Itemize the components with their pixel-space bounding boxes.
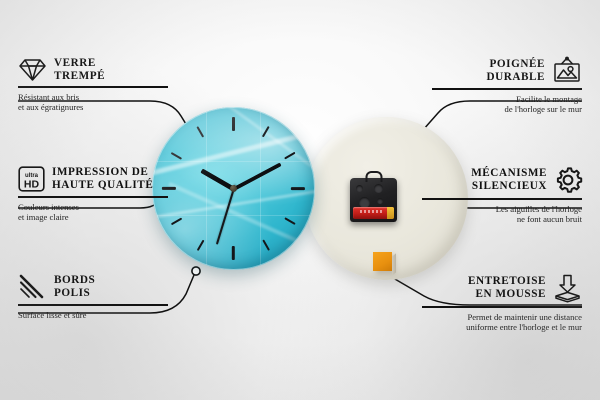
foam-spacer bbox=[373, 252, 392, 271]
movement-detail bbox=[377, 198, 383, 204]
feature-description: Facilite le montage de l'horloge sur le … bbox=[432, 94, 582, 115]
clock-rim bbox=[152, 107, 315, 270]
diagonal-lines-icon bbox=[18, 274, 47, 300]
feature-description: Surface lisse et sûre bbox=[18, 310, 168, 320]
feature-title: IMPRESSION DE HAUTE QUALITÉ bbox=[52, 166, 153, 191]
foam-spacer-side bbox=[392, 253, 396, 275]
clock-face bbox=[152, 107, 315, 270]
divider bbox=[432, 88, 582, 90]
feature-title: BORDS POLIS bbox=[54, 274, 95, 299]
feature-entretoise-en-mousse: ENTRETOISE EN MOUSSE Permet de maintenir… bbox=[422, 274, 582, 332]
ultra-hd-bottom-text: HD bbox=[24, 179, 40, 191]
feature-description: Résistant aux bris et aux égratignures bbox=[18, 92, 168, 113]
feature-verre-trempe: VERRE TREMPÉ Résistant aux bris et aux é… bbox=[18, 57, 168, 113]
movement-hanger-hook bbox=[365, 171, 382, 182]
divider bbox=[18, 86, 168, 88]
diamond-icon bbox=[18, 57, 47, 82]
infographic-canvas: VERRE TREMPÉ Résistant aux bris et aux é… bbox=[0, 0, 600, 400]
ultra-hd-badge-icon: ultra HD bbox=[18, 166, 45, 192]
clock-movement-mechanism bbox=[350, 178, 397, 222]
arrow-down-onto-foam-icon bbox=[553, 274, 582, 302]
picture-frame-hanger-icon bbox=[552, 57, 582, 84]
feature-mecanisme-silencieux: MÉCANISME SILENCIEUX Les aiguilles de l'… bbox=[422, 166, 582, 224]
battery-positive-cap bbox=[387, 207, 394, 219]
divider bbox=[18, 196, 168, 198]
feature-title: POIGNÉE DURABLE bbox=[486, 58, 545, 83]
divider bbox=[422, 306, 582, 308]
feature-impression-haute-qualite: ultra HD IMPRESSION DE HAUTE QUALITÉ Cou… bbox=[18, 166, 168, 222]
battery-label bbox=[360, 210, 384, 213]
movement-detail bbox=[374, 184, 383, 193]
movement-detail bbox=[356, 185, 363, 192]
gear-icon bbox=[554, 166, 582, 194]
divider bbox=[422, 198, 582, 200]
feature-description: Permet de maintenir une distance uniform… bbox=[422, 312, 582, 333]
feature-description: Les aiguilles de l'horloge ne font aucun… bbox=[422, 204, 582, 225]
feature-title: ENTRETOISE EN MOUSSE bbox=[468, 275, 546, 300]
battery bbox=[353, 207, 394, 219]
feature-title: MÉCANISME SILENCIEUX bbox=[471, 167, 547, 192]
feature-title: VERRE TREMPÉ bbox=[54, 57, 105, 82]
feature-bords-polis: BORDS POLIS Surface lisse et sûre bbox=[18, 274, 168, 320]
feature-description: Couleurs intenses et image claire bbox=[18, 202, 168, 223]
feature-poignee-durable: POIGNÉE DURABLE Facilite le montage de bbox=[432, 57, 582, 114]
divider bbox=[18, 304, 168, 306]
